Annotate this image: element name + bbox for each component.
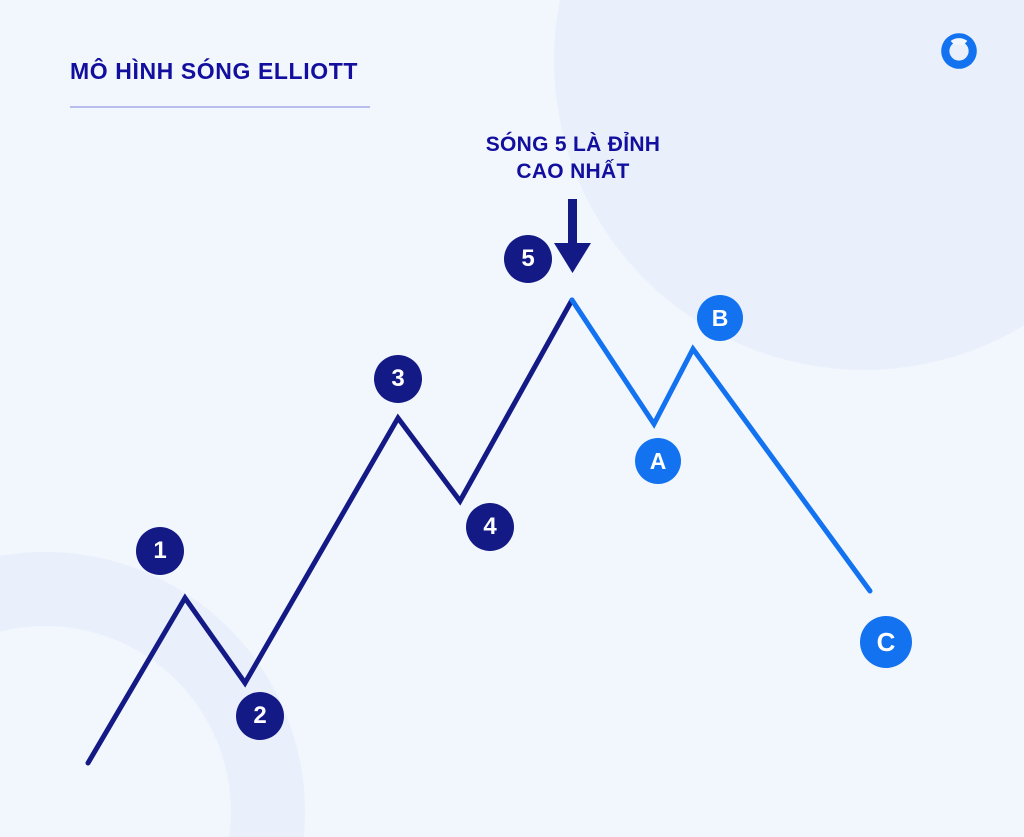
marker-a: A [635,438,681,484]
marker-5: 5 [504,235,552,283]
marker-c-label: C [877,629,896,655]
infographic-canvas: MÔ HÌNH SÓNG ELLIOTT SÓNG 5 LÀ ĐỈNH CAO … [0,0,1024,837]
marker-1-label: 1 [153,539,166,563]
down-arrow-icon [554,199,591,273]
marker-5-label: 5 [521,247,534,271]
marker-c: C [860,616,912,668]
marker-2: 2 [236,692,284,740]
elliott-wave-chart [0,0,1024,837]
marker-4-label: 4 [483,515,496,539]
marker-2-label: 2 [253,704,266,728]
marker-3: 3 [374,355,422,403]
marker-4: 4 [466,503,514,551]
corrective-wave-line [572,300,870,591]
marker-3-label: 3 [391,367,404,391]
marker-b-label: B [712,307,729,330]
marker-a-label: A [650,450,667,473]
marker-1: 1 [136,527,184,575]
marker-b: B [697,295,743,341]
